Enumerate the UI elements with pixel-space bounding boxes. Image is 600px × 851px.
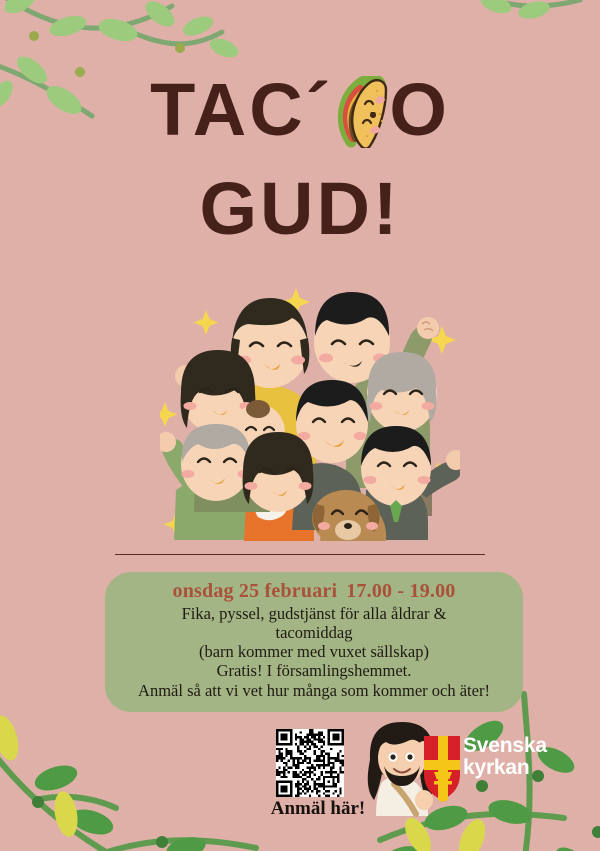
title-line-2: GUD! bbox=[0, 173, 600, 246]
event-detail-line: Anmäl så att vi vet hur många som kommer… bbox=[111, 681, 517, 700]
logo-line-1: Svenska bbox=[463, 735, 547, 757]
jesus-mascot-icon bbox=[360, 716, 460, 820]
person-head bbox=[181, 424, 251, 501]
event-detail-line: Gratis! I församlingshemmet. bbox=[111, 661, 517, 680]
horizontal-divider bbox=[115, 554, 485, 555]
taco-icon bbox=[330, 76, 392, 148]
poster-canvas: TAC´ bbox=[0, 0, 600, 851]
event-detail-line: (barn kommer med vuxet sällskap) bbox=[111, 642, 517, 661]
event-detail-line: tacomiddag bbox=[111, 623, 517, 642]
logo-line-2: kyrkan bbox=[463, 757, 547, 779]
title-line-1: TAC´ bbox=[0, 74, 600, 147]
event-info-box: onsdag 25 februari17.00 - 19.00 Fika, py… bbox=[105, 572, 523, 712]
botanical-decoration-bottom-left bbox=[0, 690, 270, 851]
svenska-kyrkan-wordmark: Svenska kyrkan bbox=[463, 735, 547, 780]
event-date: onsdag 25 februari bbox=[173, 580, 338, 602]
title-text-before-taco: TAC´ bbox=[150, 74, 333, 147]
event-time: 17.00 - 19.00 bbox=[346, 580, 455, 602]
person-head bbox=[366, 352, 437, 432]
event-datetime: onsdag 25 februari17.00 - 19.00 bbox=[111, 580, 517, 603]
crowd-of-people-illustration bbox=[160, 276, 460, 541]
title-text-after-taco: O bbox=[389, 74, 450, 147]
qr-code[interactable] bbox=[276, 729, 344, 797]
qr-code-image[interactable] bbox=[276, 729, 344, 797]
poster-title: TAC´ bbox=[0, 74, 600, 245]
person-head bbox=[243, 432, 314, 512]
event-detail-line: Fika, pyssel, gudstjänst för alla åldrar… bbox=[111, 604, 517, 623]
